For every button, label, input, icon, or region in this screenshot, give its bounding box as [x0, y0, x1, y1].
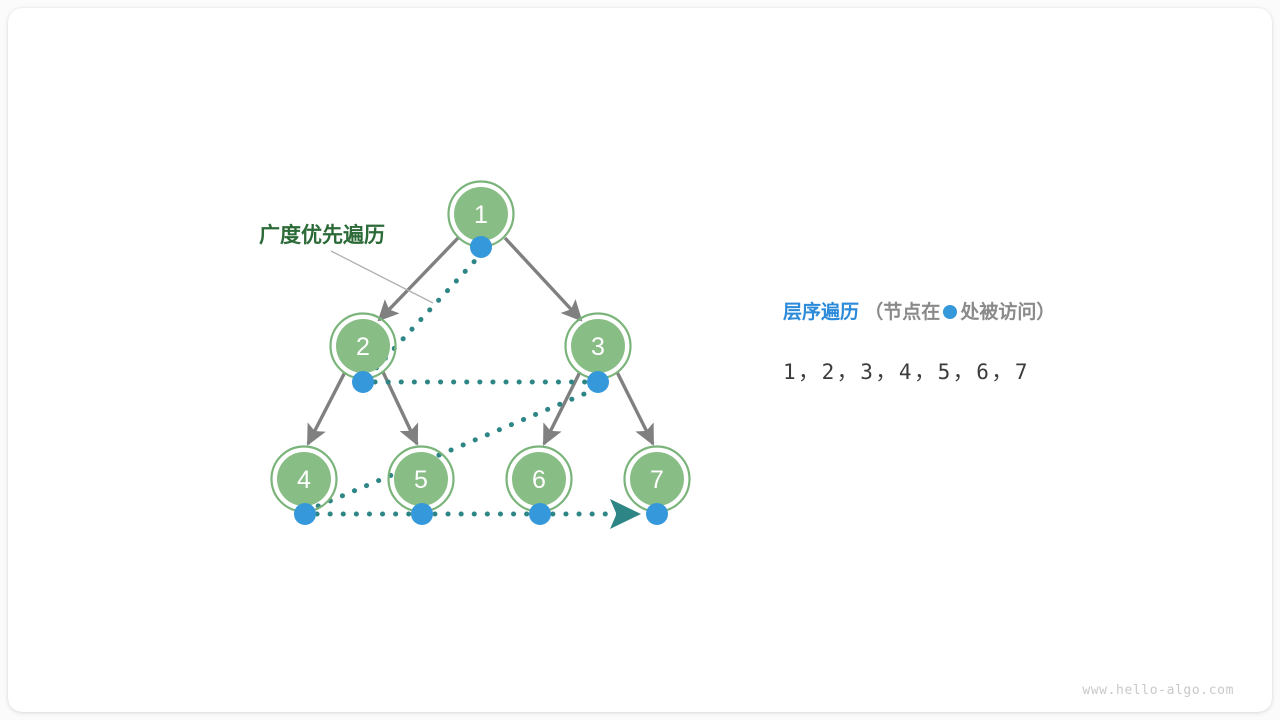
bfs-annotation-label: 广度优先遍历 [259, 223, 385, 247]
edge-2-4 [308, 372, 345, 444]
tree-node-5[interactable]: 5 [389, 447, 454, 512]
node-label: 6 [532, 466, 546, 494]
traversal-sequence: 1，2，3，4，5，6，7 [783, 356, 1213, 386]
node-label: 3 [591, 333, 605, 361]
legend-title: 层序遍历 [783, 302, 859, 323]
edge-1-3 [505, 238, 581, 320]
legend-panel: 层序遍历 （节点在处被访问） 1，2，3，4，5，6，7 [783, 300, 1213, 386]
node-label: 4 [297, 466, 311, 494]
tree-node-3[interactable]: 3 [566, 314, 631, 379]
edge-3-7 [617, 372, 653, 444]
node-label: 7 [650, 466, 664, 494]
visit-dot-icon [943, 305, 957, 319]
node-label: 5 [414, 466, 428, 494]
watermark: www.hello-algo.com [1082, 683, 1234, 698]
tree-node-7[interactable]: 7 [625, 447, 690, 512]
visit-dot-node-7[interactable] [646, 503, 668, 525]
legend-note-close: 处被访问） [960, 302, 1055, 323]
visit-dot-node-5[interactable] [411, 503, 433, 525]
tree-node-2[interactable]: 2 [331, 314, 396, 379]
bfs-leader-line [331, 251, 433, 303]
visit-dot-node-3[interactable] [587, 371, 609, 393]
legend-heading: 层序遍历 （节点在处被访问） [783, 300, 1213, 326]
visit-dot-node-2[interactable] [352, 371, 374, 393]
tree-node-6[interactable]: 6 [507, 447, 572, 512]
edge-1-2 [379, 238, 458, 320]
node-label: 2 [356, 333, 370, 361]
node-label: 1 [474, 201, 488, 229]
visit-dot-node-4[interactable] [294, 503, 316, 525]
diagram-canvas: 1 2 3 4 5 [0, 0, 1280, 720]
tree-node-4[interactable]: 4 [272, 447, 337, 512]
visit-dot-node-6[interactable] [529, 503, 551, 525]
legend-note-open: （节点在 [864, 302, 940, 323]
visit-dot-node-1[interactable] [470, 236, 492, 258]
